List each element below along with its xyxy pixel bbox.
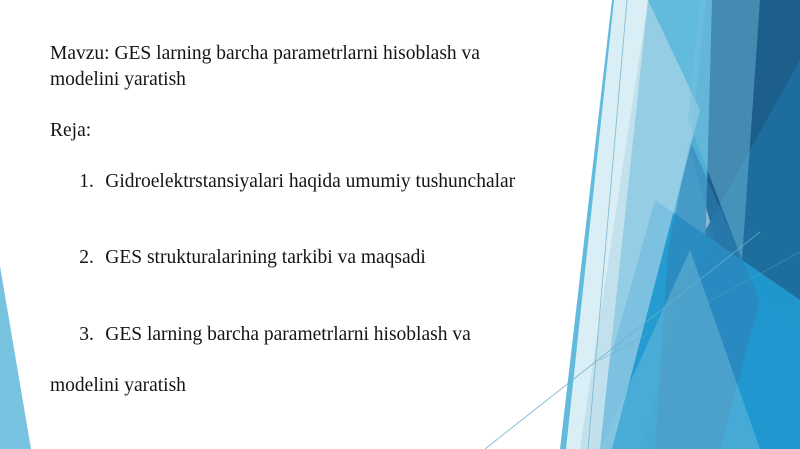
list-item-text: GES strukturalarining tarkibi va maqsadi xyxy=(105,247,426,268)
steel-blue-overlay xyxy=(655,140,760,449)
corner-triangle-shape xyxy=(0,266,31,449)
light-translucent-triangle xyxy=(688,0,760,260)
slide-title-line-2: modelini yaratish xyxy=(50,67,580,93)
list-item-text: Gidroelektrstansiyalari haqida umumiy tu… xyxy=(105,171,515,192)
sky-blue-band xyxy=(560,0,712,449)
navy-polygon xyxy=(690,0,800,336)
pale-wash-polygon xyxy=(600,250,760,449)
hairline-short xyxy=(600,252,800,360)
list-item: 2.GES strukturalarining tarkibi va maqsa… xyxy=(50,220,580,297)
slide-text-block: Mavzu: GES larning barcha parametrlarni … xyxy=(50,41,580,398)
section-label: Reja: xyxy=(50,118,580,144)
list-item-number: 3. xyxy=(79,322,105,348)
slide-canvas: Mavzu: GES larning barcha parametrlarni … xyxy=(0,0,800,449)
list-item: 1.Gidroelektrstansiyalari haqida umumiy … xyxy=(50,143,580,220)
list-item-number: 2. xyxy=(79,245,105,271)
list-item-text: GES larning barcha parametrlarni hisobla… xyxy=(105,324,471,345)
deep-blue-polygon xyxy=(660,60,800,449)
slide-title-line-1: Mavzu: GES larning barcha parametrlarni … xyxy=(50,41,580,67)
list-item-continuation: modelini yaratish xyxy=(50,373,580,399)
hairline-steep xyxy=(588,0,627,449)
list-item-number: 1. xyxy=(79,169,105,195)
pale-blue-triangle xyxy=(580,0,700,449)
bright-blue-triangle xyxy=(640,250,800,449)
paragraph-spacer xyxy=(50,92,580,118)
medium-blue-wedge xyxy=(585,200,800,449)
list-item: 3.GES larning barcha parametrlarni hisob… xyxy=(50,296,580,373)
